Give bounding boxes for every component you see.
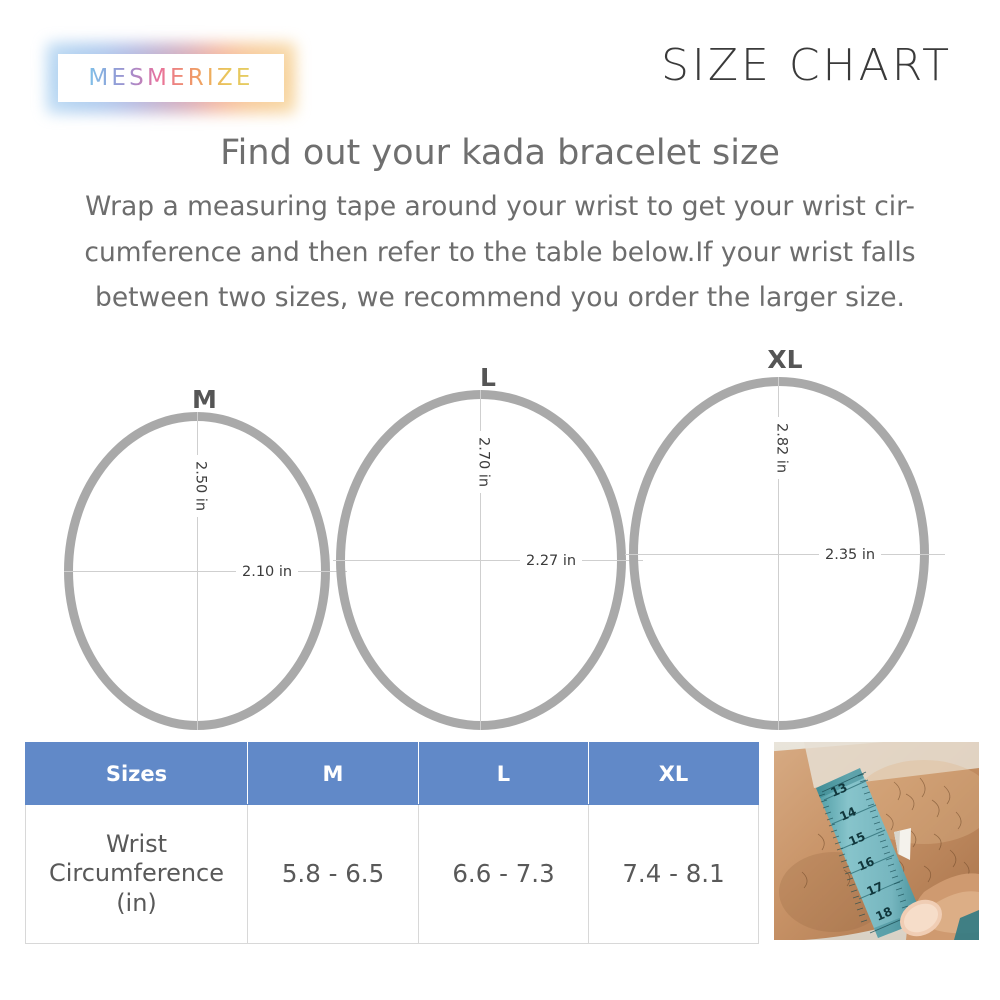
size-diagram-l-height-label: 2.70 in [474, 431, 493, 493]
table-header-xl: XL [589, 743, 759, 805]
intro-line-2: cumference and then refer to the table b… [45, 230, 955, 276]
table-header-row: Sizes M L XL [26, 743, 759, 805]
size-diagram-l-axis-horizontal [333, 560, 643, 561]
size-diagram-xl-axis-horizontal [625, 554, 945, 555]
page-title: SIZE CHART [661, 44, 952, 88]
table-header-l: L [419, 743, 589, 805]
table-row-label-line-1: Wrist [106, 830, 167, 858]
table-cell-xl: 7.4 - 8.1 [589, 805, 759, 944]
intro-heading: Find out your kada bracelet size [0, 132, 1000, 174]
size-diagram-m-width-label: 2.10 in [236, 563, 298, 582]
intro-section: Find out your kada bracelet size Wrap a … [0, 132, 1000, 321]
size-diagram-l: L 2.70 in 2.27 in [333, 365, 643, 737]
table-header-sizes: Sizes [26, 743, 248, 805]
table-header-m: M [248, 743, 419, 805]
table-cell-l: 6.6 - 7.3 [419, 805, 589, 944]
size-diagram-xl: XL 2.82 in 2.35 in [625, 347, 945, 737]
wrist-measurement-photo: 13 14 15 16 17 18 [774, 742, 979, 940]
intro-line-1: Wrap a measuring tape around your wrist … [45, 184, 955, 230]
brand-logo: MESMERIZE [46, 42, 296, 114]
size-diagram-l-label: L [480, 365, 496, 390]
size-diagram-m-axis-horizontal [64, 571, 347, 572]
table-row-label-line-3: (in) [116, 889, 157, 917]
logo-card: MESMERIZE [58, 54, 284, 102]
intro-paragraph: Wrap a measuring tape around your wrist … [45, 184, 955, 321]
table-row-label: Wrist Circumference (in) [26, 805, 248, 944]
intro-line-3: between two sizes, we recommend you orde… [45, 275, 955, 321]
size-diagrams: M 2.50 in 2.10 in L 2.70 in 2.27 in XL 2… [0, 345, 1000, 740]
size-table-head: Sizes M L XL [26, 743, 759, 805]
page-header: MESMERIZE SIZE CHART [0, 0, 1000, 130]
size-table: Sizes M L XL Wrist Circumference (in) 5.… [25, 742, 759, 944]
wrist-photo-illustration: 13 14 15 16 17 18 [774, 742, 979, 940]
size-table-body: Wrist Circumference (in) 5.8 - 6.5 6.6 -… [26, 805, 759, 944]
logo-wordmark: MESMERIZE [88, 65, 253, 91]
size-diagram-m-label: M [192, 387, 217, 412]
table-row: Wrist Circumference (in) 5.8 - 6.5 6.6 -… [26, 805, 759, 944]
size-diagram-m: M 2.50 in 2.10 in [62, 387, 347, 737]
table-cell-m: 5.8 - 6.5 [248, 805, 419, 944]
size-diagram-l-width-label: 2.27 in [520, 552, 582, 571]
size-diagram-xl-width-label: 2.35 in [819, 546, 881, 565]
size-diagram-m-height-label: 2.50 in [191, 455, 210, 517]
table-row-label-line-2: Circumference [49, 859, 224, 887]
size-diagram-xl-label: XL [767, 347, 802, 372]
size-diagram-xl-height-label: 2.82 in [772, 417, 791, 479]
